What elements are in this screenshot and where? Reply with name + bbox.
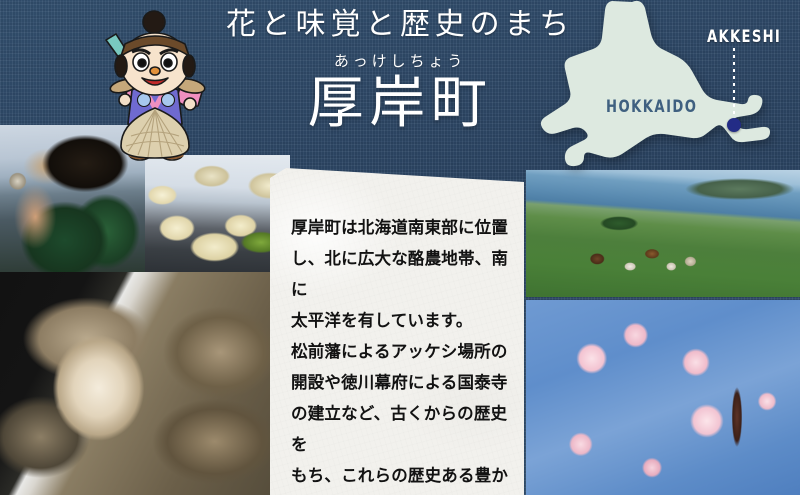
photo-pasture-horses	[526, 170, 800, 297]
akkeshi-town-banner: 花と味覚と歴史のまち あっけしちょう 厚岸町	[0, 0, 800, 495]
hokkaido-map: HOKKAIDO AKKESHI	[540, 0, 800, 176]
description-card: 厚岸町は北海道南東部に位置 し、北に広大な酪農地帯、南に 太平洋を有しています。…	[270, 168, 524, 495]
map-location-pin	[727, 118, 741, 132]
map-label-akkeshi: AKKESHI	[707, 27, 781, 47]
map-label-hokkaido: HOKKAIDO	[606, 97, 697, 117]
photo-cherry-blossoms	[526, 300, 800, 495]
description-text: 厚岸町は北海道南東部に位置 し、北に広大な酪農地帯、南に 太平洋を有しています。…	[291, 212, 510, 495]
map-leader-line	[733, 48, 735, 120]
photo-oysters	[0, 272, 290, 495]
mascot-character	[98, 4, 210, 174]
